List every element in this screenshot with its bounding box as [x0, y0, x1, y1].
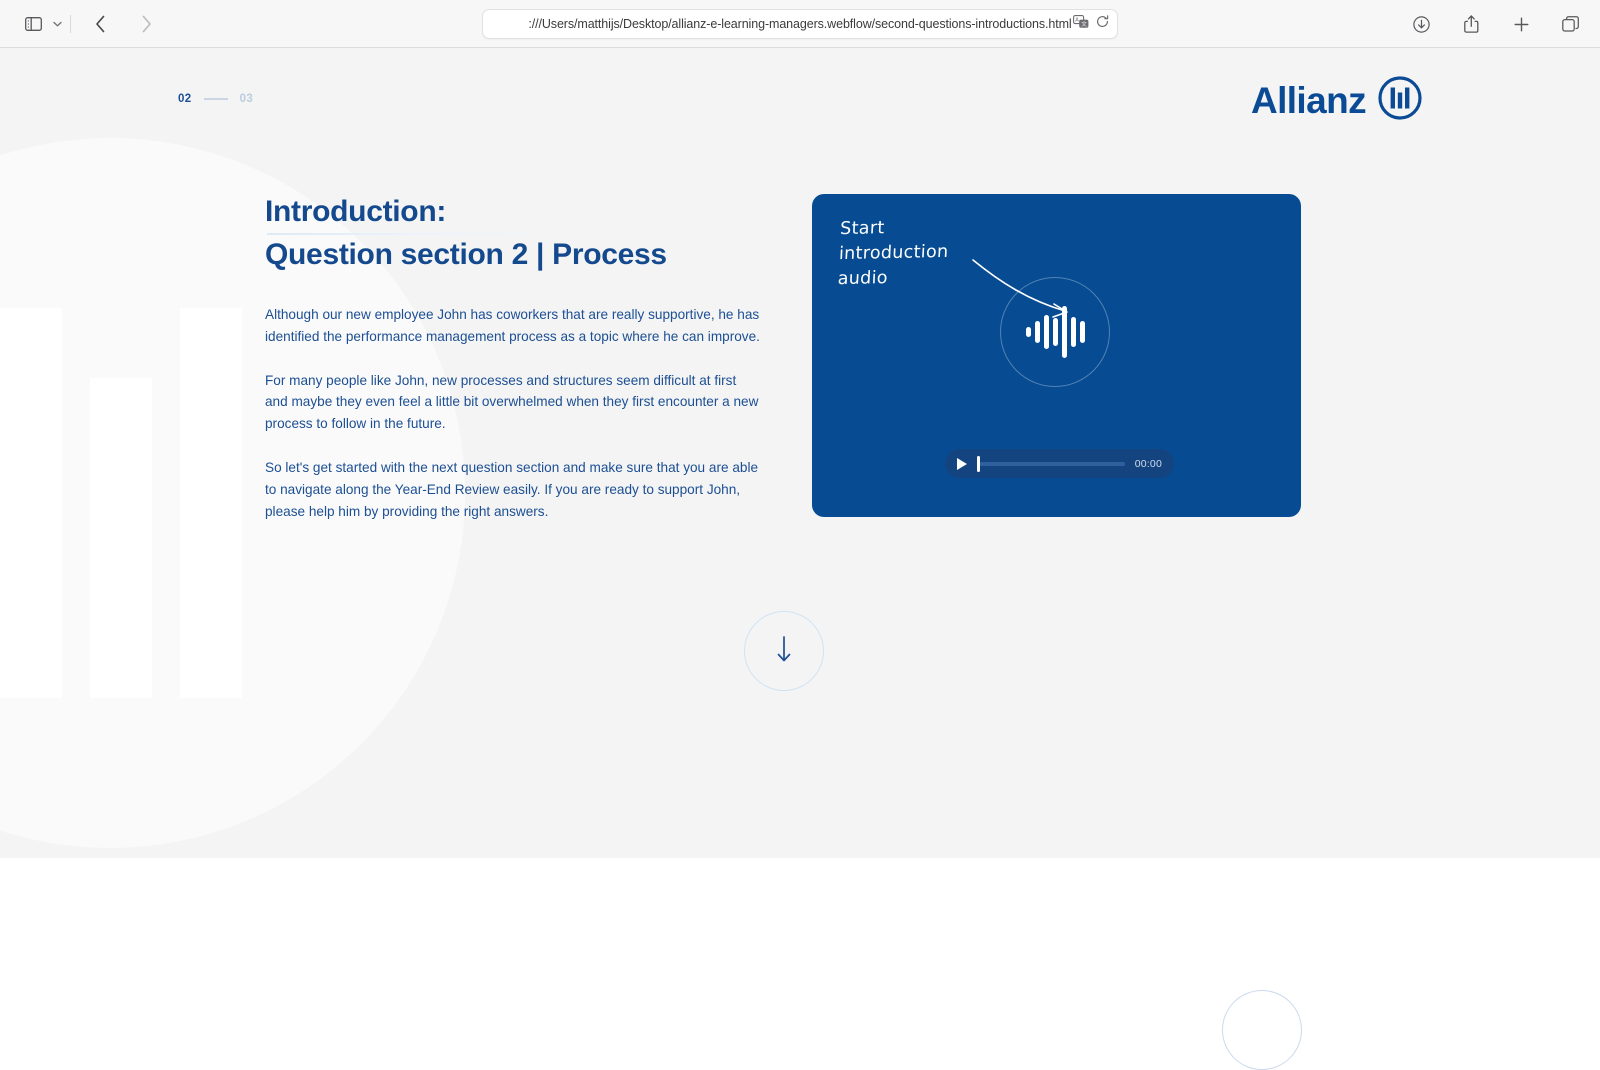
page-canvas: 02 03 Allianz Introduction: Question sec… — [0, 48, 1600, 1000]
svg-text:A: A — [1075, 17, 1079, 23]
sidebar-toggle-icon[interactable] — [18, 9, 48, 39]
forward-chevron-icon[interactable] — [131, 9, 161, 39]
brand-wordmark: Allianz — [1251, 80, 1366, 122]
waveform-bar — [1026, 327, 1031, 337]
body-copy: Although our new employee John has cowor… — [265, 304, 761, 522]
waveform-bar — [1044, 315, 1049, 349]
pager-divider — [204, 98, 228, 100]
address-bar[interactable]: :///Users/matthijs/Desktop/allianz-e-lea… — [482, 9, 1118, 39]
hero-section: 02 03 Allianz Introduction: Question sec… — [0, 48, 1600, 858]
tab-overview-icon[interactable] — [1556, 9, 1586, 39]
arrow-down-icon — [776, 633, 792, 670]
pager-current: 02 — [178, 93, 192, 105]
allianz-logo: Allianz — [1251, 76, 1422, 125]
address-bar-icons: A 文 — [1073, 15, 1109, 34]
share-icon[interactable] — [1456, 9, 1486, 39]
note-line-2: introduction — [838, 240, 949, 267]
paragraph: Although our new employee John has cowor… — [265, 304, 761, 348]
audio-time: 00:00 — [1135, 458, 1162, 470]
section-pager: 02 03 — [178, 93, 253, 105]
waveform-bar — [1080, 321, 1085, 343]
scrubber-playhead[interactable] — [977, 456, 980, 472]
browser-nav-controls — [0, 9, 161, 39]
download-icon[interactable] — [1406, 9, 1436, 39]
audio-player: 00:00 — [945, 449, 1174, 478]
waveform-bar — [1053, 318, 1058, 346]
waveform-bar — [1071, 317, 1076, 347]
play-icon[interactable] — [957, 458, 967, 470]
paragraph: So let's get started with the next quest… — [265, 457, 761, 522]
handwritten-note: Start introduction audio — [837, 215, 950, 292]
url-text: :///Users/matthijs/Desktop/allianz-e-lea… — [528, 17, 1071, 31]
audio-waveform-icon[interactable] — [1000, 277, 1110, 387]
plus-icon[interactable] — [1506, 9, 1536, 39]
browser-toolbar: :///Users/matthijs/Desktop/allianz-e-lea… — [0, 0, 1600, 48]
next-section-button[interactable] — [1222, 990, 1302, 1070]
note-line-3: audio — [837, 265, 948, 292]
reload-icon[interactable] — [1096, 15, 1109, 33]
page-title-line-1: Introduction: — [265, 190, 446, 233]
pager-next[interactable]: 03 — [240, 93, 254, 105]
note-line-1: Start — [840, 215, 951, 242]
scroll-down-button[interactable] — [744, 611, 824, 691]
allianz-mark-icon — [1378, 76, 1422, 125]
translate-icon[interactable]: A 文 — [1073, 15, 1089, 34]
browser-actions — [1406, 0, 1586, 48]
paragraph: For many people like John, new processes… — [265, 370, 761, 435]
svg-text:文: 文 — [1081, 20, 1087, 28]
page-title: Introduction: Question section 2 | Proce… — [265, 190, 885, 276]
waveform-bar — [1062, 306, 1067, 358]
toolbar-divider — [70, 15, 71, 33]
waveform-bar — [1035, 321, 1040, 343]
audio-scrubber[interactable] — [977, 462, 1125, 466]
page-title-line-2: Question section 2 | Process — [265, 238, 667, 271]
audio-card: Start introduction audio — [812, 194, 1301, 517]
back-chevron-icon[interactable] — [85, 9, 115, 39]
sidebar-dropdown-icon[interactable] — [48, 9, 66, 39]
